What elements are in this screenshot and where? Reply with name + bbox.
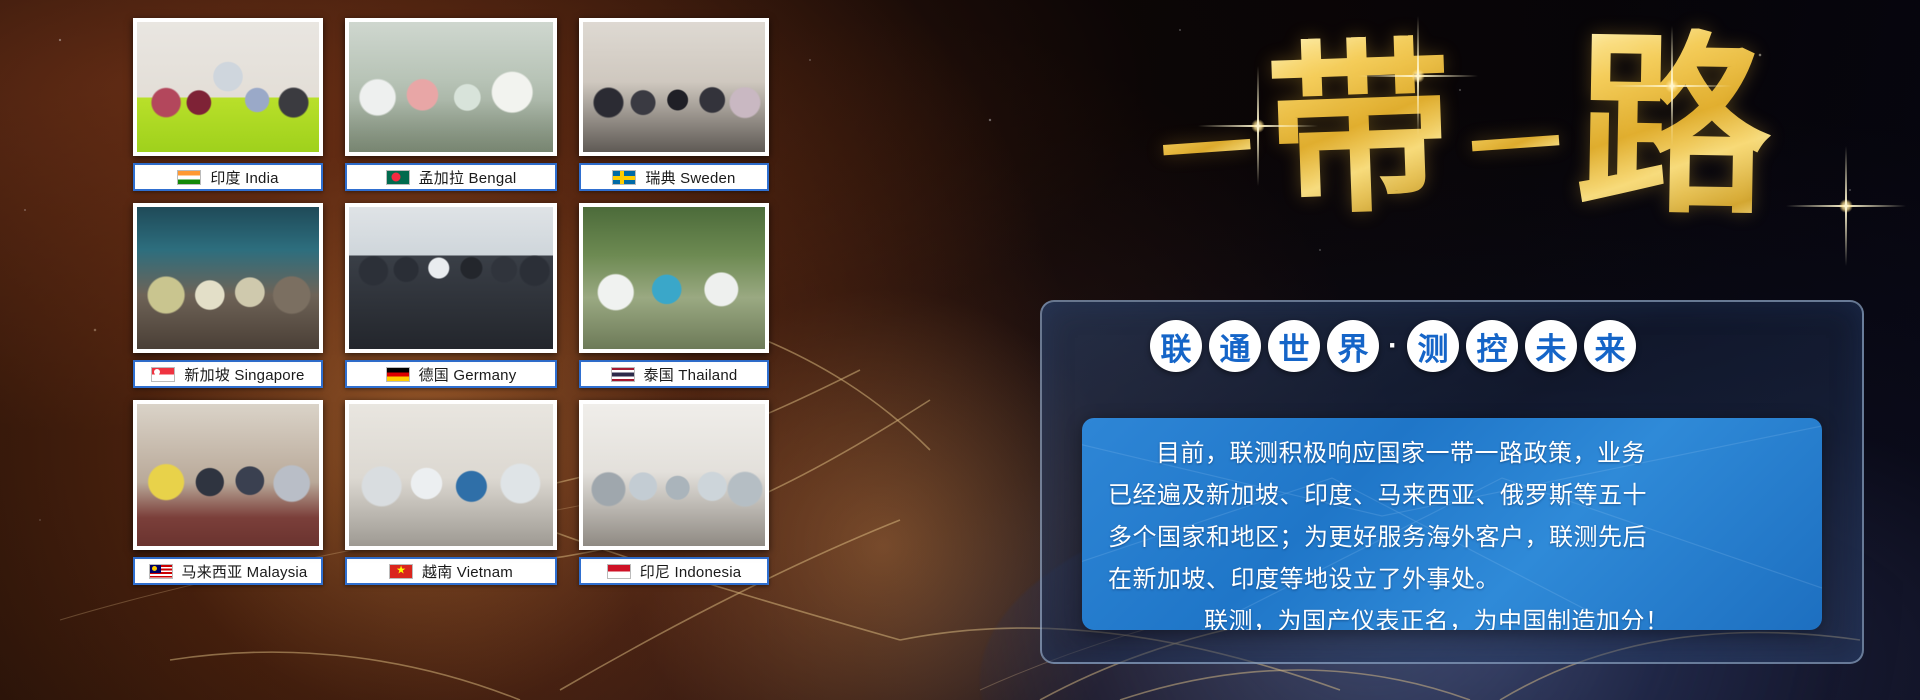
- label-text: 印度 India: [210, 167, 278, 188]
- flag-bangladesh-icon: [386, 170, 410, 185]
- label-singapore: 新加坡 Singapore: [133, 360, 323, 388]
- label-vietnam: ★ 越南 Vietnam: [345, 557, 557, 585]
- description-line-3: 多个国家和地区；为更好服务海外客户，联测先后: [1108, 516, 1796, 558]
- photo-germany: [345, 203, 557, 353]
- calligraphy-char-4: 路: [1574, 26, 1772, 224]
- label-text: 泰国 Thailand: [644, 364, 738, 385]
- gallery-item-thailand[interactable]: 泰国 Thailand: [579, 203, 769, 388]
- slogan-char-8: 来: [1584, 320, 1636, 372]
- label-text: 新加坡 Singapore: [184, 364, 304, 385]
- slogan-row: 联 通 世 界 · 测 控 未 来: [1150, 320, 1636, 372]
- slogan-separator: ·: [1388, 329, 1398, 363]
- label-text: 瑞典 Sweden: [645, 167, 735, 188]
- photo-vietnam: [345, 400, 557, 550]
- label-sweden: 瑞典 Sweden: [579, 163, 769, 191]
- calligraphy-char-1: 一: [1158, 102, 1256, 200]
- label-text: 印尼 Indonesia: [640, 561, 742, 582]
- flag-sweden-icon: [612, 170, 636, 185]
- gallery-item-malaysia[interactable]: 马来西亚 Malaysia: [133, 400, 323, 585]
- photo-sweden: [579, 18, 769, 156]
- gallery-item-vietnam[interactable]: ★ 越南 Vietnam: [345, 400, 557, 585]
- headline-calligraphy: 一 带 一 路: [1020, 8, 1910, 238]
- country-gallery-grid: 印度 India 孟加拉 Bengal: [133, 18, 769, 585]
- flag-malaysia-icon: [149, 564, 173, 579]
- label-text: 马来西亚 Malaysia: [182, 561, 308, 582]
- description-line-4: 在新加坡、印度等地设立了外事处。: [1108, 558, 1796, 600]
- description-line-2: 已经遍及新加坡、印度、马来西亚、俄罗斯等五十: [1108, 474, 1796, 516]
- photo-bengal: [345, 18, 557, 156]
- label-malaysia: 马来西亚 Malaysia: [133, 557, 323, 585]
- slogan-char-1: 联: [1150, 320, 1202, 372]
- label-india: 印度 India: [133, 163, 323, 191]
- gallery-item-indonesia[interactable]: 印尼 Indonesia: [579, 400, 769, 585]
- gallery-item-bengal[interactable]: 孟加拉 Bengal: [345, 18, 557, 191]
- banner-root: 一 带 一 路 印度 India: [0, 0, 1920, 700]
- label-text: 越南 Vietnam: [422, 561, 513, 582]
- slogan-char-2: 通: [1209, 320, 1261, 372]
- label-thailand: 泰国 Thailand: [579, 360, 769, 388]
- gallery-item-singapore[interactable]: 新加坡 Singapore: [133, 203, 323, 388]
- photo-malaysia: [133, 400, 323, 550]
- slogan-char-4: 界: [1327, 320, 1379, 372]
- flag-thailand-icon: [611, 367, 635, 382]
- description-line-5: 联测，为国产仪表正名，为中国制造加分！: [1108, 600, 1796, 630]
- flag-singapore-icon: [151, 367, 175, 382]
- photo-singapore: [133, 203, 323, 353]
- label-indonesia: 印尼 Indonesia: [579, 557, 769, 585]
- flag-indonesia-icon: [607, 564, 631, 579]
- photo-india: [133, 18, 323, 156]
- slogan-char-5: 测: [1407, 320, 1459, 372]
- photo-thailand: [579, 203, 769, 353]
- calligraphy-char-3: 一: [1467, 98, 1565, 196]
- gallery-item-germany[interactable]: 德国 Germany: [345, 203, 557, 388]
- label-bengal: 孟加拉 Bengal: [345, 163, 557, 191]
- slogan-char-6: 控: [1466, 320, 1518, 372]
- slogan-char-3: 世: [1268, 320, 1320, 372]
- description-line-1: 目前，联测积极响应国家一带一路政策，业务: [1108, 432, 1796, 474]
- photo-indonesia: [579, 400, 769, 550]
- flag-germany-icon: [386, 367, 410, 382]
- gallery-item-india[interactable]: 印度 India: [133, 18, 323, 191]
- calligraphy-char-2: 带: [1264, 33, 1455, 224]
- gallery-item-sweden[interactable]: 瑞典 Sweden: [579, 18, 769, 191]
- label-text: 孟加拉 Bengal: [419, 167, 517, 188]
- label-text: 德国 Germany: [419, 364, 517, 385]
- description-box: 目前，联测积极响应国家一带一路政策，业务 已经遍及新加坡、印度、马来西亚、俄罗斯…: [1082, 418, 1822, 630]
- slogan-char-7: 未: [1525, 320, 1577, 372]
- flag-india-icon: [177, 170, 201, 185]
- label-germany: 德国 Germany: [345, 360, 557, 388]
- flag-vietnam-icon: ★: [389, 564, 413, 579]
